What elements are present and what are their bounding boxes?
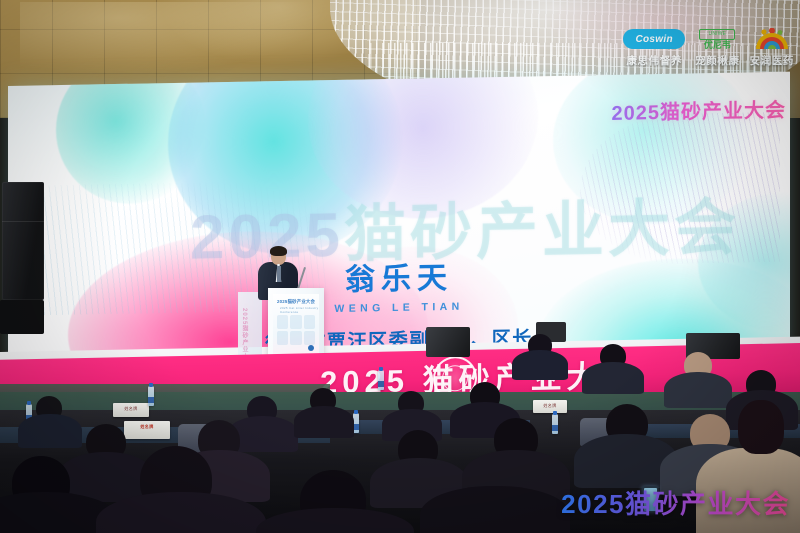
uniwe-logo-wrap: UNIWE 优尼韦 <box>699 28 735 50</box>
speaker-stand-left <box>0 300 44 334</box>
water-bottle <box>552 414 558 434</box>
poster-icon-1 <box>277 315 288 329</box>
attendee-shoulders-foreground <box>420 486 570 533</box>
screen-graphics: 2025猫砂产业大会 2025猫砂产业大会 翁乐天 WENG LE TIAN 徐… <box>8 72 790 368</box>
bottle-cap <box>27 401 31 405</box>
uniwe-logo-mark: UNIWE <box>699 29 735 40</box>
line-array-speaker-left <box>2 182 44 300</box>
poster-icon-5 <box>290 331 301 345</box>
poster-icon-6 <box>304 331 315 345</box>
sponsor-coswin: Coswin 康思伟督养 <box>623 28 685 68</box>
sponsor-uniwe: UNIWE 优尼韦 宠颜楸康 <box>695 28 739 68</box>
podium-poster-icons <box>277 315 315 345</box>
sponsor-anrun-label: 安润医药 <box>750 53 794 68</box>
corner-watermark: 2025猫砂产业大会 <box>561 484 790 521</box>
podium-poster: 2025猫砂产业大会 2025 Cat Litter Industry Conf… <box>273 294 319 356</box>
poster-icon-4 <box>277 331 288 345</box>
sponsor-anrun: 安润医药 <box>750 28 794 68</box>
placard-text: 姓名牌 <box>533 403 567 409</box>
attendee-head-foreground <box>738 400 784 454</box>
water-bottle <box>148 386 154 406</box>
attendee-shoulders <box>294 406 354 438</box>
name-placard: 姓名牌 <box>113 403 149 417</box>
poster-icon-2 <box>290 315 301 329</box>
placard-text: 姓名牌 <box>124 424 170 430</box>
anrun-logo-wrap <box>752 28 792 50</box>
attendee-shoulders <box>512 350 568 380</box>
podium-poster-title: 2025猫砂产业大会 <box>277 299 315 305</box>
conference-photo: Coswin 康思伟督养 UNIWE 优尼韦 宠颜楸康 <box>0 0 800 533</box>
uniwe-icon: UNIWE 优尼韦 <box>699 28 735 50</box>
presenter-tie <box>277 266 281 282</box>
uniwe-logo-text: 优尼韦 <box>704 41 731 50</box>
sponsor-coswin-label: 康思伟督养 <box>626 53 682 68</box>
led-stage-screen: 2025猫砂产业大会 2025猫砂产业大会 翁乐天 WENG LE TIAN 徐… <box>8 72 790 368</box>
name-placard: 姓名牌 <box>533 400 567 413</box>
screen-corner-title: 2025猫砂产业大会 <box>612 94 787 126</box>
poster-accent-dot <box>308 345 314 351</box>
attendee-shoulders <box>18 414 82 448</box>
sponsor-logo-bar: Coswin 康思伟督养 UNIWE 优尼韦 宠颜楸康 <box>623 28 794 68</box>
sponsor-uniwe-label: 宠颜楸康 <box>695 53 739 68</box>
bottle-cap <box>379 367 383 371</box>
attendee-shoulders <box>582 362 644 394</box>
bottle-cap <box>553 411 557 415</box>
coswin-logo-wrap: Coswin <box>623 28 685 50</box>
bottle-cap <box>354 410 358 414</box>
presenter-hair <box>270 246 287 256</box>
anrun-fan-icon <box>752 28 792 50</box>
water-bottle <box>378 370 384 390</box>
bottle-cap <box>149 383 153 387</box>
poster-icon-3 <box>304 315 315 329</box>
stage-monitor-1 <box>426 327 470 357</box>
placard-text: 姓名牌 <box>113 406 149 412</box>
name-placard: 姓名牌 <box>124 421 170 439</box>
attendee-shoulders <box>664 372 732 408</box>
coswin-icon: Coswin <box>623 29 685 49</box>
podium-poster-subtitle: 2025 Cat Litter Industry Conference <box>280 306 319 314</box>
